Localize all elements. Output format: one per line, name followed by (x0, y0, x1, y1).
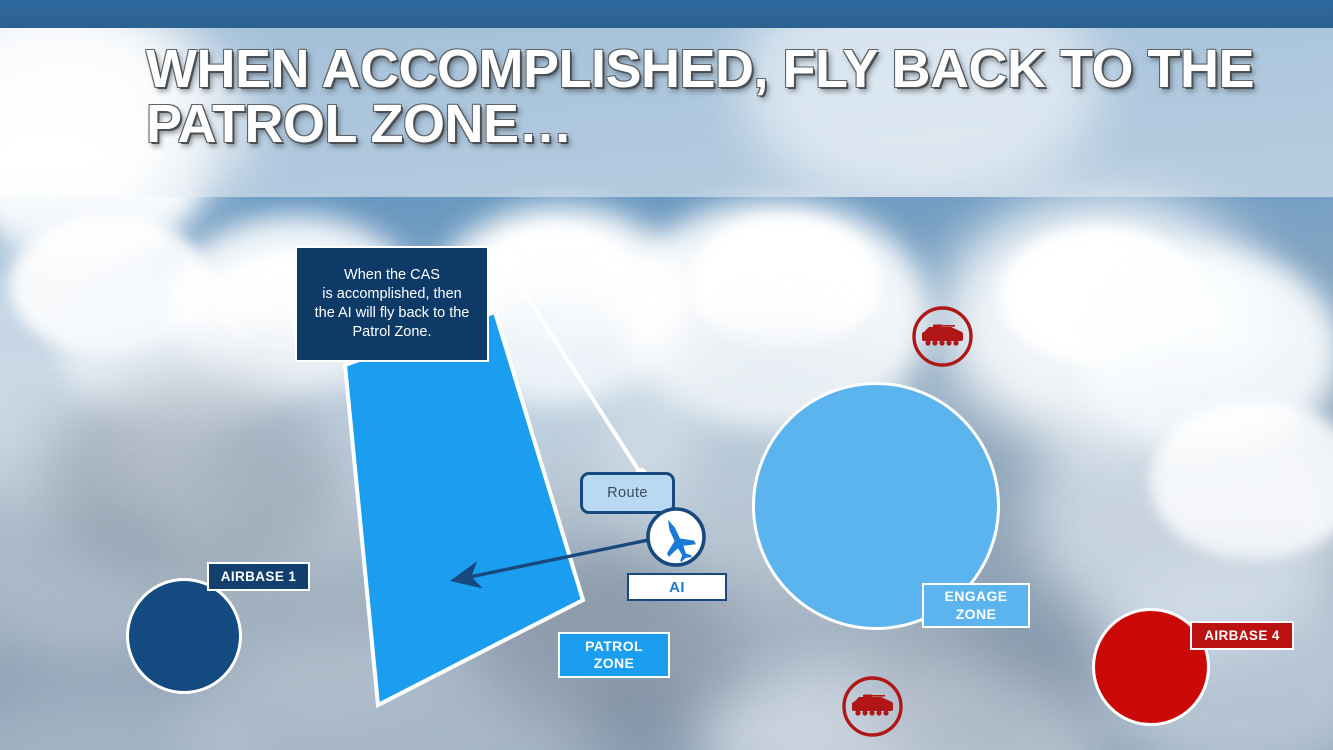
armored-vehicle-icon[interactable] (911, 305, 974, 368)
route-label-text: Route (607, 485, 648, 501)
armored-vehicle-icon[interactable] (841, 675, 904, 738)
patrol-zone-label-text: PATROL ZONE (585, 638, 643, 673)
patrol-zone-label[interactable]: PATROL ZONE (558, 632, 670, 678)
engage-zone-label-text: ENGAGE ZONE (944, 588, 1007, 623)
engage-zone-label[interactable]: ENGAGE ZONE (922, 583, 1030, 628)
airbase-1-label[interactable]: AIRBASE 1 (207, 562, 310, 591)
airbase-4-label[interactable]: AIRBASE 4 (1190, 621, 1294, 650)
page-title: WHEN ACCOMPLISHED, FLY BACK TO THE PATRO… (146, 42, 1266, 152)
presentation-slide: When the CAS is accomplished, then the A… (0, 0, 1333, 750)
fighter-jet-icon[interactable] (645, 506, 707, 568)
leader-line-start-dot (503, 263, 515, 275)
ai-unit-label[interactable]: AI (627, 573, 727, 601)
cas-explanation-callout[interactable]: When the CAS is accomplished, then the A… (295, 246, 489, 362)
airbase-4-label-text: AIRBASE 4 (1204, 628, 1280, 643)
airbase-1-label-text: AIRBASE 1 (221, 569, 297, 584)
ai-unit-label-text: AI (669, 579, 685, 596)
top-accent-bar (0, 0, 1333, 28)
patrol-zone-polygon[interactable] (345, 312, 583, 705)
callout-text: When the CAS is accomplished, then the A… (315, 266, 470, 343)
